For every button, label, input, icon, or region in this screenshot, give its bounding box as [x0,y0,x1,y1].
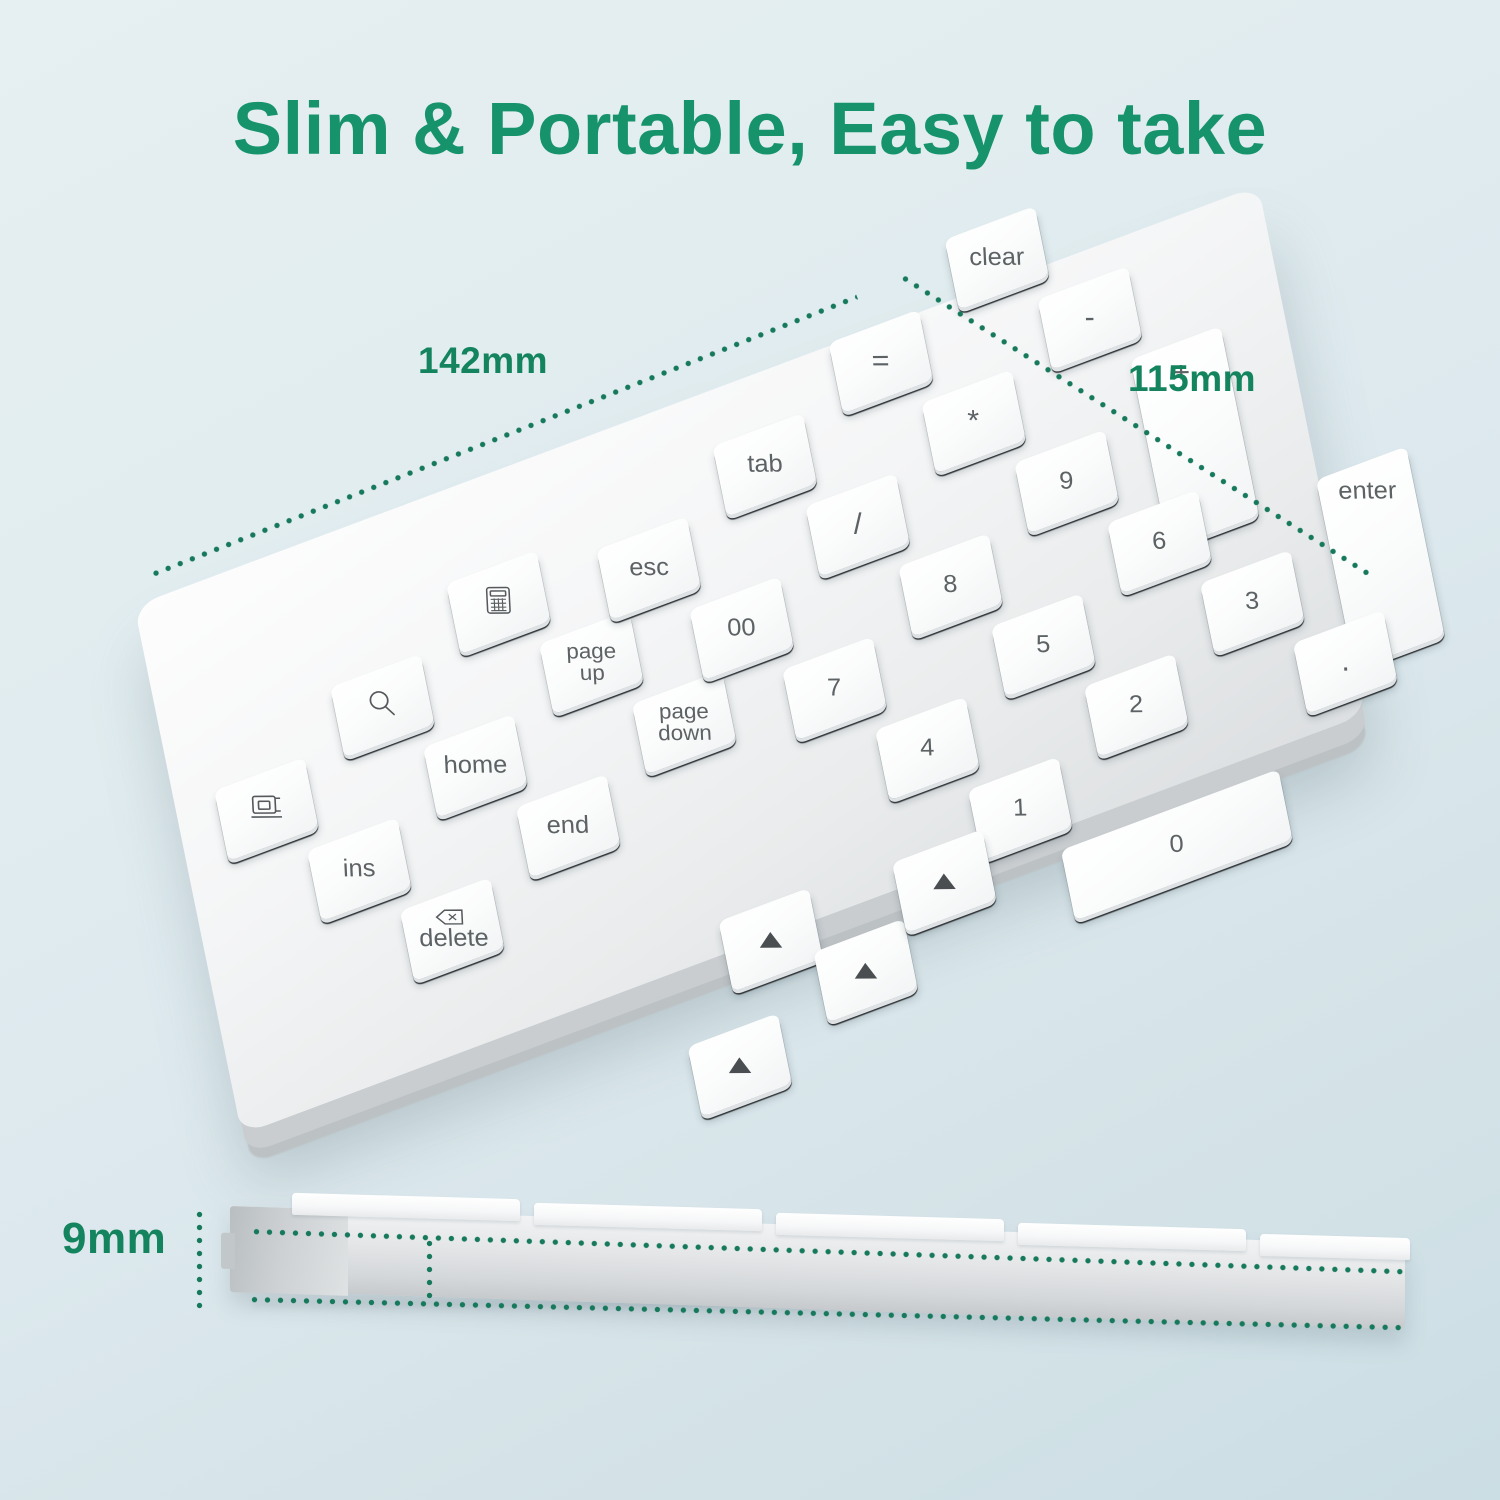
key-num-6-label: 6 [1152,529,1167,554]
key-divide-label: / [853,510,863,540]
profile-port-nub [221,1233,235,1269]
screenshot-icon [248,792,284,827]
key-arrow-left[interactable] [688,1013,792,1117]
key-num-6[interactable]: 6 [1107,490,1211,594]
key-page-down[interactable]: page down [632,671,736,775]
keypad-key-surface: ins home page up delete end [134,186,1366,1135]
triangle-right-icon [930,870,958,892]
key-num-4[interactable]: 4 [875,697,979,801]
key-num-8[interactable]: 8 [898,533,1002,637]
triangle-down-icon [852,960,880,982]
triangle-up-icon [757,929,785,951]
key-num-2-label: 2 [1128,693,1143,718]
thickness-guide-vertical [426,1237,433,1305]
key-divide[interactable]: / [805,473,909,577]
key-arrow-right[interactable] [892,829,996,933]
key-double-zero[interactable]: 00 [689,576,793,680]
key-arrow-down[interactable] [813,919,917,1023]
key-num-9-label: 9 [1059,469,1074,494]
key-multiply[interactable]: * [921,369,1025,473]
page-title: Slim & Portable, Easy to take [0,86,1500,171]
key-search[interactable] [330,654,434,758]
key-ins-label: ins [342,857,376,882]
key-end-label: end [546,813,590,838]
key-delete[interactable]: delete [400,877,504,981]
key-double-zero-label: 00 [727,616,757,641]
key-esc[interactable]: esc [597,516,701,620]
dimension-label-width: 142mm [418,340,548,382]
key-equals[interactable]: = [829,309,933,413]
key-end[interactable]: end [516,774,620,878]
key-equals-label: = [871,346,890,376]
key-minus[interactable]: - [1038,266,1142,370]
thickness-guide-measure [196,1208,203,1312]
key-num-0-label: 0 [1169,832,1184,857]
search-icon [365,688,399,725]
key-clear[interactable]: clear [945,206,1049,310]
key-num-5[interactable]: 5 [991,593,1095,697]
key-home-label: home [443,753,508,778]
key-tab-label: tab [746,452,783,477]
key-page-up-label: page up [565,640,617,684]
key-num-4-label: 4 [920,736,935,761]
key-screenshot[interactable] [214,757,318,861]
key-num-2[interactable]: 2 [1084,653,1188,757]
product-marketing-image: Slim & Portable, Easy to take [0,0,1500,1500]
key-minus-label: - [1084,303,1096,333]
key-arrow-up[interactable] [719,888,823,992]
profile-left-endcap [230,1206,348,1296]
key-num-7-label: 7 [827,676,842,701]
key-page-up[interactable]: page up [539,610,643,714]
key-decimal-label: . [1340,647,1350,677]
key-num-3-label: 3 [1245,589,1260,614]
triangle-left-icon [726,1054,754,1076]
key-home[interactable]: home [423,714,527,818]
keypad-top-view: ins home page up delete end [134,186,1366,1135]
key-ins[interactable]: ins [307,817,411,921]
key-num-1-label: 1 [1012,796,1027,821]
key-clear-label: clear [969,245,1025,270]
calculator-icon [482,584,514,621]
key-num-5-label: 5 [1036,633,1051,658]
key-num-3[interactable]: 3 [1200,550,1304,654]
key-multiply-label: * [967,406,980,436]
key-num-9[interactable]: 9 [1014,430,1118,534]
profile-key-edge [1260,1234,1410,1260]
dimension-label-thickness: 9mm [62,1214,166,1264]
key-page-down-label: page down [656,700,712,744]
key-num-0[interactable]: 0 [1061,769,1293,921]
key-num-7[interactable]: 7 [782,636,886,740]
key-decimal[interactable]: . [1293,610,1397,714]
key-delete-label: delete [419,926,490,951]
key-esc-label: esc [628,556,669,581]
dimension-label-depth: 115mm [1128,358,1256,400]
key-enter-label: enter [1337,479,1396,504]
key-calculator[interactable] [446,550,550,654]
key-num-8-label: 8 [943,572,958,597]
key-tab[interactable]: tab [713,413,817,517]
